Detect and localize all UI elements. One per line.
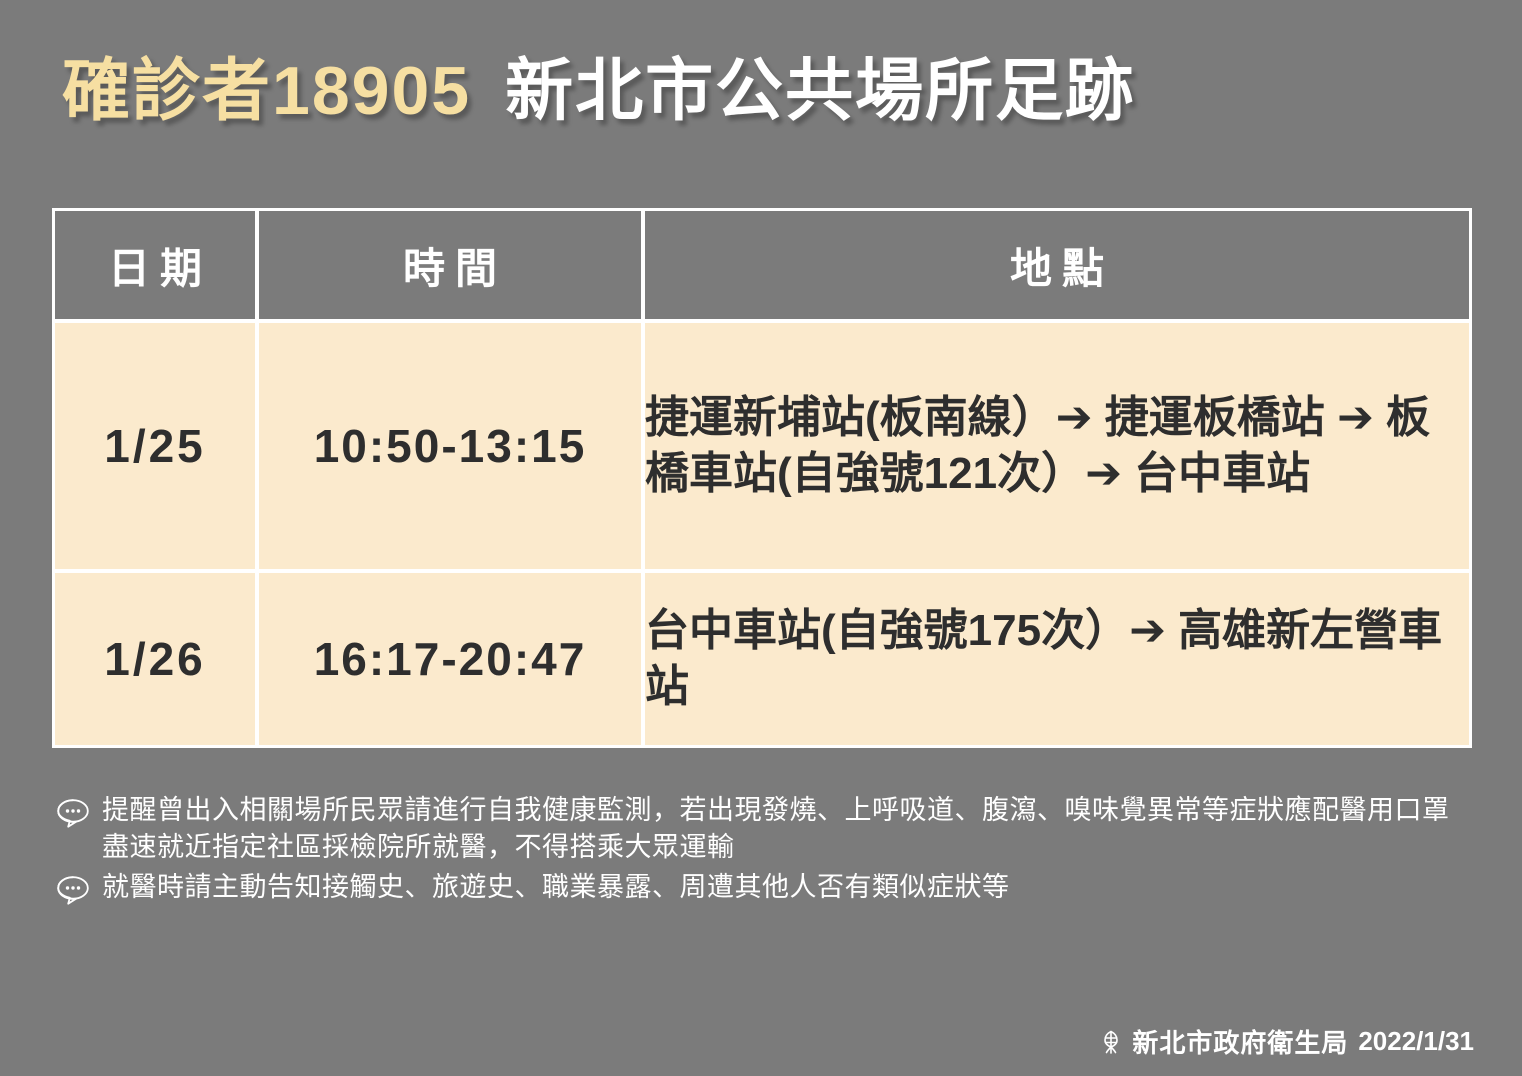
note-item: 提醒曾出入相關場所民眾請進行自我健康監測，若出現發燒、上呼吸道、腹瀉、嗅味覺異常… xyxy=(56,792,1476,867)
speech-bubble-icon xyxy=(56,798,90,828)
cell-date: 1/25 xyxy=(55,323,259,573)
cell-location: 捷運新埔站(板南線）➔ 捷運板橋站 ➔ 板橋車站(自強號121次）➔ 台中車站 xyxy=(645,323,1469,573)
note-text: 就醫時請主動告知接觸史、旅遊史、職業暴露、周遭其他人否有類似症狀等 xyxy=(102,869,1010,906)
column-header-date: 日期 xyxy=(55,211,259,323)
cell-time: 16:17-20:47 xyxy=(259,573,645,745)
page-title-main: 新北市公共場所足跡 xyxy=(505,53,1135,129)
note-text: 提醒曾出入相關場所民眾請進行自我健康監測，若出現發燒、上呼吸道、腹瀉、嗅味覺異常… xyxy=(102,792,1476,867)
speech-bubble-icon xyxy=(56,875,90,905)
cell-date: 1/26 xyxy=(55,573,259,745)
column-header-location: 地點 xyxy=(645,211,1469,323)
cell-location: 台中車站(自強號175次）➔ 高雄新左營車站 xyxy=(645,573,1469,745)
notes-section: 提醒曾出入相關場所民眾請進行自我健康監測，若出現發燒、上呼吸道、腹瀉、嗅味覺異常… xyxy=(56,792,1476,908)
table-row: 1/26 16:17-20:47 台中車站(自強號175次）➔ 高雄新左營車站 xyxy=(55,573,1469,745)
table-row: 1/25 10:50-13:15 捷運新埔站(板南線）➔ 捷運板橋站 ➔ 板橋車… xyxy=(55,323,1469,573)
footer: 新北市政府衛生局 2022/1/31 xyxy=(1096,1023,1474,1060)
page-title: 確診者18905新北市公共場所足跡 xyxy=(62,54,1135,129)
footprint-table: 日期 時間 地點 1/25 10:50-13:15 捷運新埔站(板南線）➔ 捷運… xyxy=(52,208,1472,748)
cell-time: 10:50-13:15 xyxy=(259,323,645,573)
page-title-highlight: 確診者18905 xyxy=(62,53,471,129)
footer-date: 2022/1/31 xyxy=(1358,1026,1474,1057)
note-item: 就醫時請主動告知接觸史、旅遊史、職業暴露、周遭其他人否有類似症狀等 xyxy=(56,869,1476,906)
infographic-page: 確診者18905新北市公共場所足跡 日期 時間 地點 1/25 10:50-13… xyxy=(0,0,1522,1076)
new-taipei-city-emblem-icon xyxy=(1096,1027,1126,1057)
footer-organization: 新北市政府衛生局 xyxy=(1132,1023,1348,1060)
table-header-row: 日期 時間 地點 xyxy=(55,211,1469,323)
column-header-time: 時間 xyxy=(259,211,645,323)
